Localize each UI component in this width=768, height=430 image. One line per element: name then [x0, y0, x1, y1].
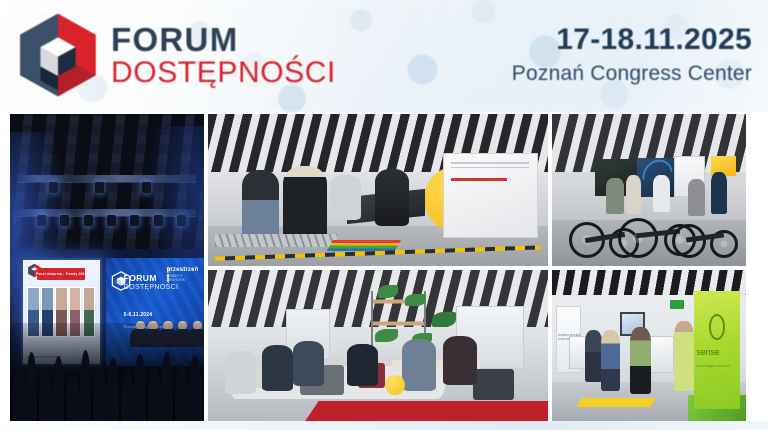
stage-spotlight — [95, 182, 104, 193]
red-carpet-walkway — [301, 401, 548, 421]
stage-spotlight — [107, 215, 116, 226]
forum-dostepnosci-hex-cube-logo — [14, 11, 102, 99]
plant-leaf — [405, 294, 425, 306]
exhibitor-figure — [375, 169, 409, 227]
poster-header: FORUM DOSTĘPNOŚCI 17-18.11.2025 Poznań C… — [0, 0, 768, 112]
brand-line-dostepnosci: DOSTĘPNOŚCI — [111, 57, 336, 89]
brand-line-forum: FORUM — [111, 24, 336, 56]
sense-brand-name: sense — [696, 347, 737, 357]
event-date: 17-18.11.2025 — [512, 24, 752, 56]
attendee-figure — [630, 327, 651, 394]
attendee-figure — [347, 344, 378, 386]
sense-circle-icon — [709, 314, 726, 340]
backdrop-side-subtitle: OBIEKTY, ARCHITEK — [167, 274, 170, 282]
tactile-guidance-path — [577, 398, 656, 407]
event-info-block: 17-18.11.2025 Poznań Congress Center — [512, 24, 752, 86]
sample-material-strips — [327, 240, 401, 251]
brand-logo-block: FORUM DOSTĘPNOŚCI — [14, 11, 336, 99]
photo-expo-booth — [208, 114, 548, 266]
attendee-figure — [601, 330, 620, 391]
visitor-figure — [242, 170, 279, 241]
sense-rollup-banner: sense technologie dla ludzi — [694, 291, 741, 409]
photo-conference-hall: Panel otwarcia - Trendy 2025 przestrzeń … — [10, 114, 204, 421]
backdrop-side-title: przestrzeń — [167, 267, 170, 273]
exit-sign-icon — [670, 300, 684, 309]
attendee-figure — [262, 345, 293, 390]
backdrop-side-text: przestrzeń OBIEKTY, ARCHITEK — [167, 267, 204, 282]
audience-silhouettes — [10, 323, 204, 421]
info-panel-board — [443, 153, 538, 238]
visitor-figure — [330, 175, 361, 220]
stage-spotlight — [130, 215, 139, 226]
photo-adaptive-bikes-expo — [552, 114, 746, 266]
backdrop-date: 5-6.11.2024 — [124, 312, 153, 318]
screen-session-title: Panel otwarcia - Trendy 2025 — [36, 272, 87, 276]
tactile-floor-grate — [215, 234, 337, 248]
sense-brand-tagline: technologie dla ludzi — [697, 364, 738, 368]
attendee-figure — [402, 339, 436, 391]
staff-figure — [674, 321, 693, 391]
bottom-background-strip — [0, 421, 768, 430]
yellow-seat-ball — [385, 375, 405, 395]
stage-spotlight — [84, 215, 93, 226]
photo-registration-desk: PRZESTRZEŃ DOSTĘPNOŚCI sense technologie… — [552, 270, 746, 422]
event-venue: Poznań Congress Center — [512, 61, 752, 86]
photo-collage-grid: Panel otwarcia - Trendy 2025 przestrzeń … — [10, 114, 758, 421]
event-promo-poster: FORUM DOSTĘPNOŚCI 17-18.11.2025 Poznań C… — [0, 0, 768, 430]
attendee-figure — [585, 330, 602, 382]
screen-session-banner: Panel otwarcia - Trendy 2025 — [37, 268, 85, 280]
adaptive-bike — [672, 194, 746, 258]
brand-wordmark: FORUM DOSTĘPNOŚCI — [111, 22, 336, 88]
backdrop-title-line2: DOSTĘPNOŚCI — [124, 283, 179, 291]
photo-networking-lounge — [208, 270, 548, 422]
attendee-figure — [443, 336, 477, 384]
attendee-figure — [225, 351, 256, 393]
visitor-figure — [283, 166, 327, 245]
lounge-armchair — [473, 369, 514, 399]
attendee-figure — [293, 341, 324, 386]
